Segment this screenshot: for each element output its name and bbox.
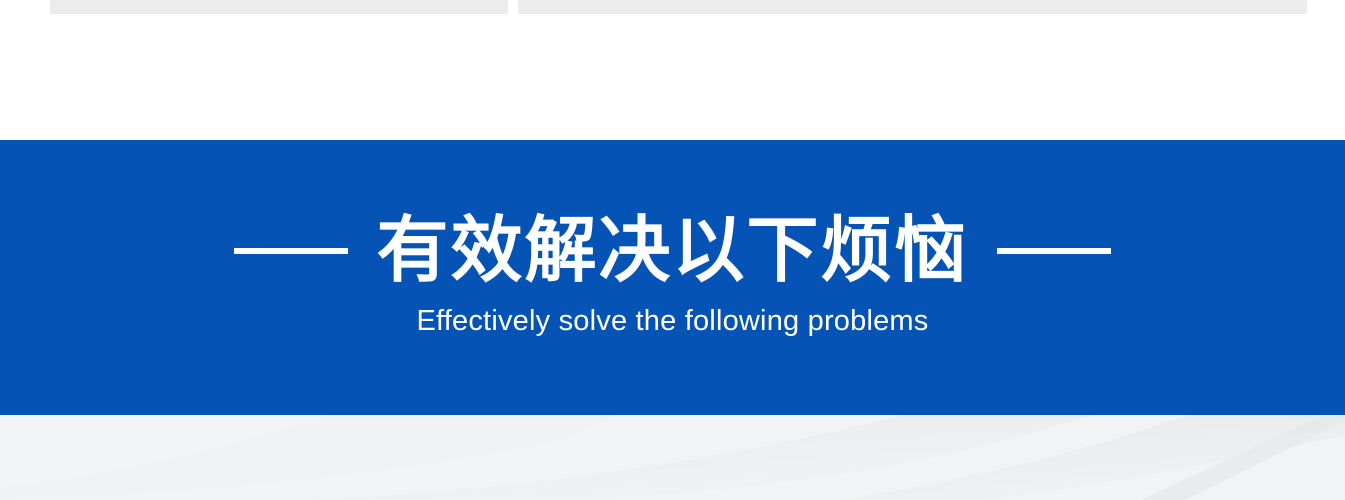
rule-right-decoration bbox=[997, 248, 1111, 254]
banner-content: 有效解决以下烦恼 Effectively solve the following… bbox=[0, 140, 1345, 415]
blue-banner: 有效解决以下烦恼 Effectively solve the following… bbox=[0, 140, 1345, 415]
banner-headline: 有效解决以下烦恼 bbox=[376, 213, 968, 289]
rule-left-decoration bbox=[234, 248, 348, 254]
headline-row: 有效解决以下烦恼 bbox=[234, 213, 1110, 289]
banner-subtitle: Effectively solve the following problems bbox=[417, 305, 929, 338]
top-card-strip bbox=[0, 0, 1345, 140]
swoosh-decoration bbox=[0, 415, 1345, 500]
promo-section: 有效解决以下烦恼 Effectively solve the following… bbox=[0, 0, 1345, 500]
top-card-left bbox=[50, 0, 508, 14]
top-card-right bbox=[518, 0, 1307, 14]
bottom-decorative-band bbox=[0, 415, 1345, 500]
